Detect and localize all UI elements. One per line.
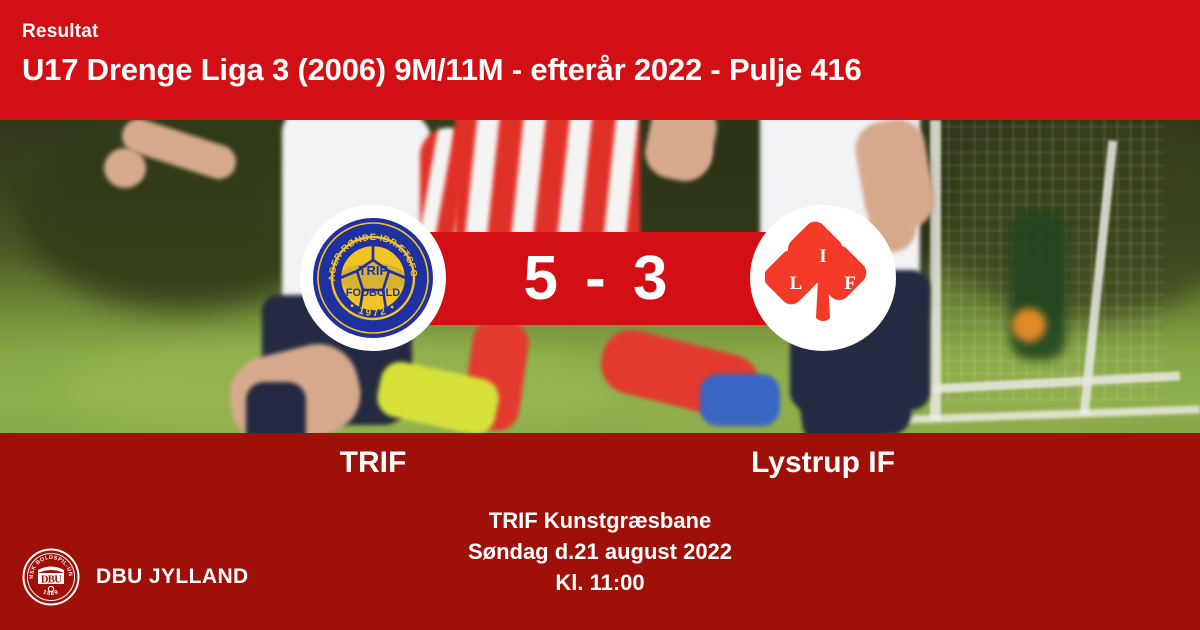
result-graphic: Resultat U17 Drenge Liga 3 (2006) 9M/11M…	[0, 0, 1200, 630]
team-names-row: TRIF Lystrup IF	[0, 443, 1200, 485]
home-team-name: TRIF	[193, 443, 553, 483]
dbu-emblem-icon: DANSK BOLDSPIL-UNION 1889 DBU	[22, 548, 80, 606]
page-title: U17 Drenge Liga 3 (2006) 9M/11M - efterå…	[22, 54, 1200, 87]
player-sock	[246, 382, 306, 433]
svg-text:F: F	[844, 273, 856, 294]
match-venue: TRIF Kunstgræsbane	[0, 505, 1200, 536]
player-hand	[660, 130, 712, 176]
header-banner: Resultat U17 Drenge Liga 3 (2006) 9M/11M…	[0, 0, 1200, 120]
background-ball	[1012, 308, 1046, 342]
svg-text:1889: 1889	[42, 589, 60, 597]
player-boot	[700, 374, 780, 426]
away-team-name: Lystrup IF	[643, 443, 1003, 483]
score-value: 5 - 3	[373, 232, 823, 325]
dbu-footer: DANSK BOLDSPIL-UNION 1889 DBU DBU JYLLAN…	[22, 548, 249, 606]
svg-text:DBU: DBU	[41, 575, 62, 586]
player-hand	[104, 148, 146, 188]
dbu-label: DBU JYLLAND	[96, 565, 249, 589]
goal-post	[930, 120, 941, 420]
header-kicker: Resultat	[22, 22, 1200, 41]
